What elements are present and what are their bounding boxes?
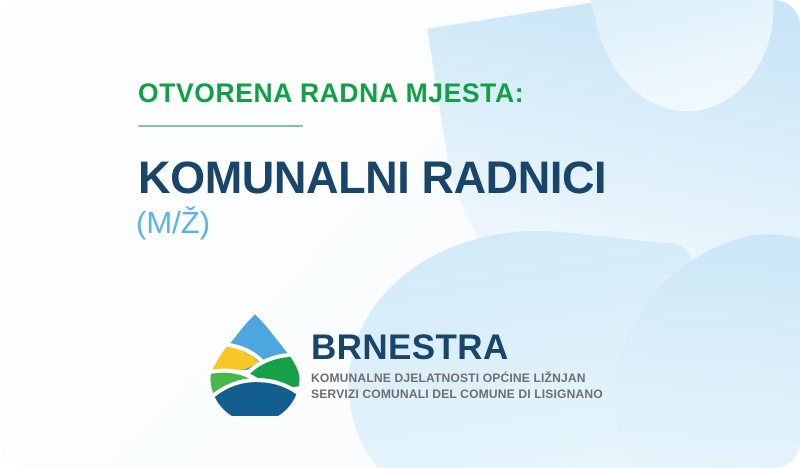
eyebrow-heading: OTVORENA RADNA MJESTA: — [138, 78, 524, 109]
brnestra-wordmark: BRNESTRA — [311, 330, 631, 365]
page-subtitle-gender: (M/Ž) — [136, 205, 210, 241]
page-title: KOMUNALNI RADNICI — [138, 152, 606, 204]
brnestra-logo: BRNESTRA KOMUNALNE DJELATNOSTI OPĆINE LI… — [205, 310, 625, 420]
logo-tagline-croatian: KOMUNALNE DJELATNOSTI OPĆINE LIŽNJAN — [311, 370, 631, 386]
heading-divider — [138, 125, 303, 127]
brnestra-waterdrop-landscape-logo-icon — [205, 310, 305, 416]
brnestra-logo-text: BRNESTRA KOMUNALNE DJELATNOSTI OPĆINE LI… — [311, 330, 631, 402]
poster-card: OTVORENA RADNA MJESTA: KOMUNALNI RADNICI… — [0, 0, 800, 468]
logo-tagline-italian: SERVIZI COMUNALI DEL COMUNE DI LISIGNANO — [311, 386, 631, 402]
poster-content: OTVORENA RADNA MJESTA: KOMUNALNI RADNICI… — [0, 0, 800, 468]
